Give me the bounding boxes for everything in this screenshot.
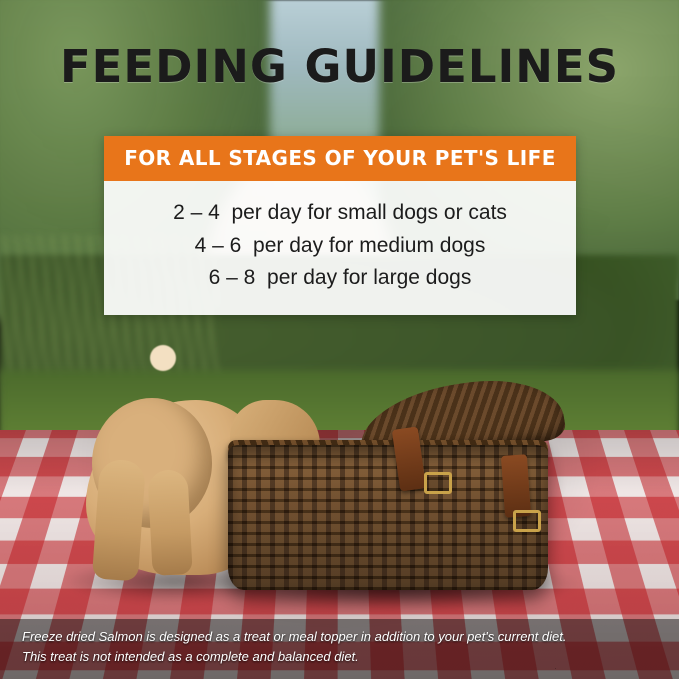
- disclaimer: Freeze dried Salmon is designed as a tre…: [22, 627, 662, 667]
- feeding-line-large: 6 – 8 per day for large dogs: [114, 262, 566, 295]
- picnic-basket: [228, 400, 548, 600]
- feeding-guidelines-panel: FOR ALL STAGES OF YOUR PET'S LIFE 2 – 4 …: [104, 136, 576, 315]
- dog-rear-leg-left: [92, 459, 146, 582]
- basket-strap-right: [501, 454, 531, 518]
- panel-header: FOR ALL STAGES OF YOUR PET'S LIFE: [104, 136, 576, 181]
- panel-body: 2 – 4 per day for small dogs or cats 4 –…: [104, 181, 576, 315]
- product-infographic: FEEDING GUIDELINES FOR ALL STAGES OF YOU…: [0, 0, 679, 679]
- page-title: FEEDING GUIDELINES: [0, 40, 679, 93]
- disclaimer-line-2: This treat is not intended as a complete…: [22, 647, 662, 667]
- disclaimer-line-1: Freeze dried Salmon is designed as a tre…: [22, 627, 662, 647]
- basket-buckle-right: [513, 510, 541, 532]
- dog-rear-leg-right: [147, 469, 192, 576]
- feeding-line-medium: 4 – 6 per day for medium dogs: [114, 230, 566, 263]
- feeding-line-small: 2 – 4 per day for small dogs or cats: [114, 197, 566, 230]
- dog-tail-tip: [150, 345, 176, 371]
- basket-buckle-left: [424, 472, 452, 494]
- basket-body: [228, 445, 548, 590]
